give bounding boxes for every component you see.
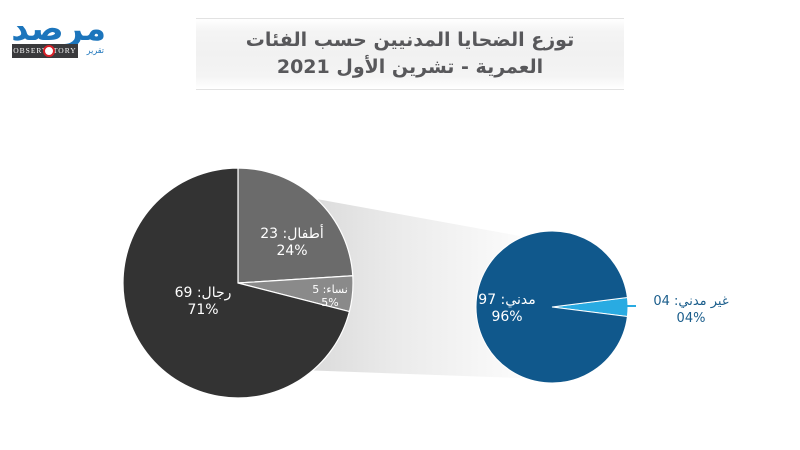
pie-label-civilian-percent: 96%	[455, 309, 559, 326]
pie-label-men-value: رجال: 69	[148, 285, 258, 302]
pie-label-children-value: أطفال: 23	[243, 226, 341, 243]
pie-label-women-percent: 5%	[297, 296, 363, 309]
pie-label-children-percent: 24%	[243, 243, 341, 260]
chart-title-line-2: العمرية - تشرين الأول 2021	[277, 54, 543, 81]
pie-label-men-percent: 71%	[148, 302, 258, 319]
logo[interactable]: مرصد OBSERVATORY تقرير	[10, 14, 106, 66]
pie-label-noncivilian: غير مدني: 04 04%	[634, 293, 748, 327]
red-circle-icon	[43, 45, 55, 57]
pie-label-women: نساء: 5 5%	[297, 283, 363, 309]
chart-title-line-1: توزع الضحايا المدنيين حسب الفئات	[246, 27, 574, 54]
pie-label-noncivilian-value: غير مدني: 04	[634, 293, 748, 310]
chart-title-band: توزع الضحايا المدنيين حسب الفئات العمرية…	[196, 18, 624, 90]
pie-label-noncivilian-percent: 04%	[634, 310, 748, 327]
pie-label-women-value: نساء: 5	[297, 283, 363, 296]
logo-arabic-text: مرصد	[11, 12, 106, 46]
pie-label-civilian: مدني: 97 96%	[455, 292, 559, 326]
pie-label-men: رجال: 69 71%	[148, 285, 258, 319]
pie-label-civilian-value: مدني: 97	[455, 292, 559, 309]
logo-subtitle: تقرير	[87, 46, 104, 55]
pie-label-children: أطفال: 23 24%	[243, 226, 341, 260]
